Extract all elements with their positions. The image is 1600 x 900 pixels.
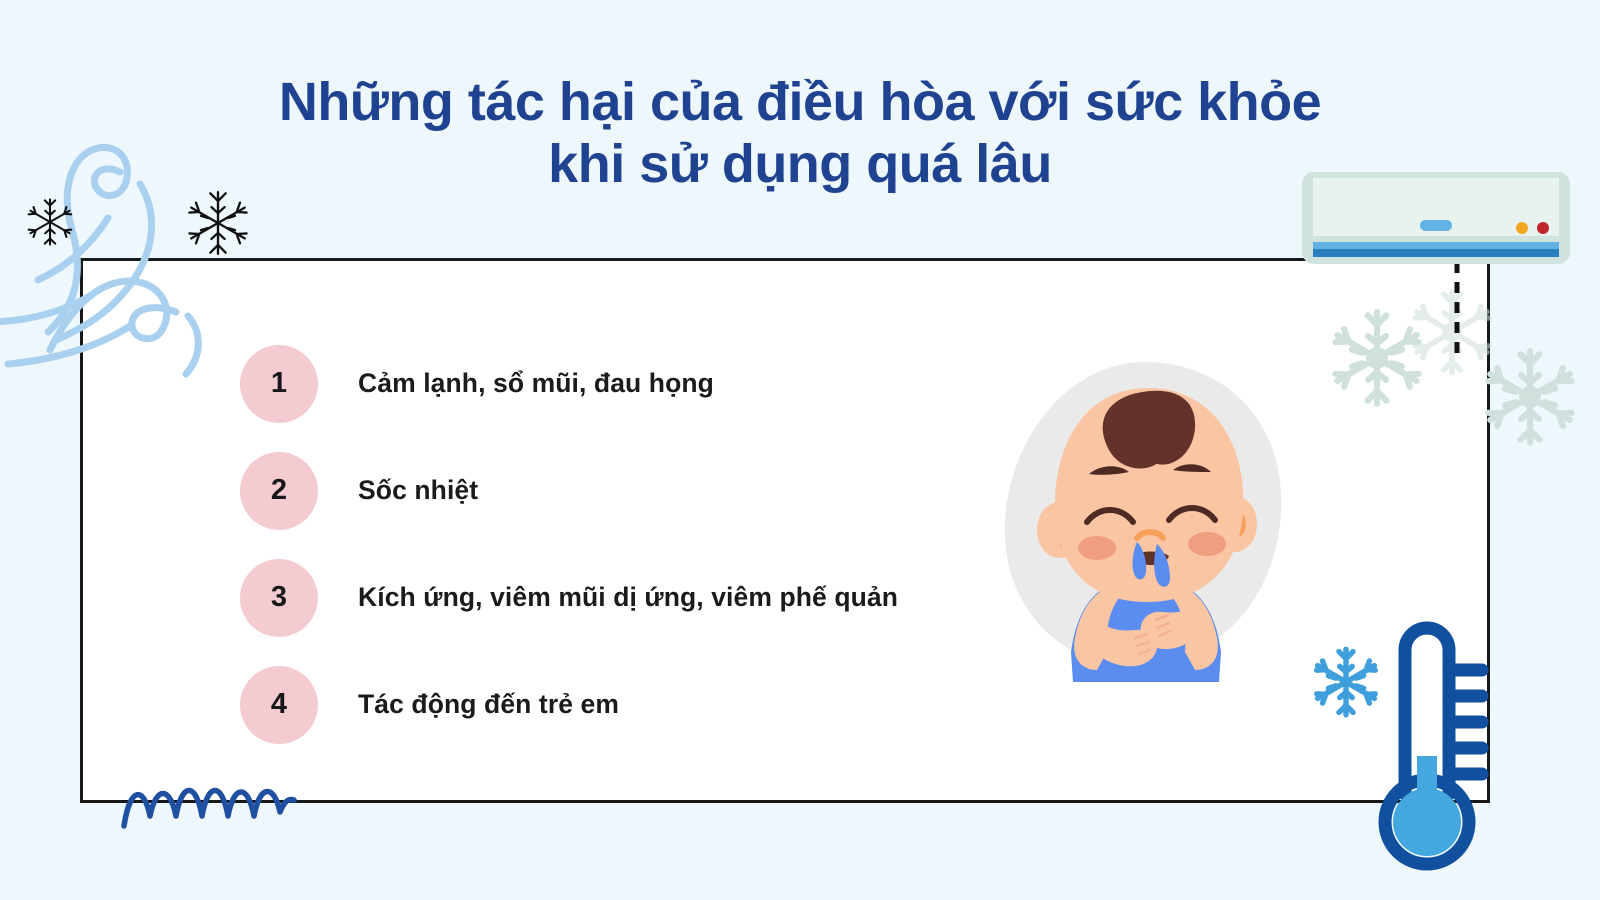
snowflake-line-icon xyxy=(185,190,251,256)
list-number-badge: 1 xyxy=(240,345,318,423)
list-number: 2 xyxy=(271,476,287,505)
list-number-badge: 3 xyxy=(240,559,318,637)
snowflake-line-icon xyxy=(24,196,76,248)
list-item-label: Kích ứng, viêm mũi dị ứng, viêm phế quản xyxy=(358,582,898,613)
air-conditioner-icon xyxy=(1302,172,1570,264)
list-number-badge: 4 xyxy=(240,666,318,744)
thermometer-icon xyxy=(1370,608,1495,880)
list-item-label: Tác động đến trẻ em xyxy=(358,689,619,720)
infographic-canvas: Những tác hại của điều hòa với sức khỏe … xyxy=(0,0,1600,900)
wind-swirl-decoration xyxy=(0,126,280,396)
list-number: 1 xyxy=(271,369,287,398)
zigzag-squiggle-decoration xyxy=(118,768,318,830)
list-number: 3 xyxy=(271,583,287,612)
list-item-label: Sốc nhiệt xyxy=(358,475,478,506)
list-item: 2 Sốc nhiệt xyxy=(240,437,1020,544)
harm-list: 1 Cảm lạnh, sổ mũi, đau họng 2 Sốc nhiệt… xyxy=(240,330,1020,758)
list-item: 1 Cảm lạnh, sổ mũi, đau họng xyxy=(240,330,1020,437)
cold-air-dashed-line xyxy=(1454,262,1460,354)
list-number-badge: 2 xyxy=(240,452,318,530)
list-item: 3 Kích ứng, viêm mũi dị ứng, viêm phế qu… xyxy=(240,544,1020,651)
list-number: 4 xyxy=(271,690,287,719)
list-item-label: Cảm lạnh, sổ mũi, đau họng xyxy=(358,368,714,399)
title-line-1: Những tác hại của điều hòa với sức khỏe xyxy=(0,72,1600,134)
sick-baby-illustration xyxy=(985,352,1305,682)
list-item: 4 Tác động đến trẻ em xyxy=(240,651,1020,758)
snowflake-icon xyxy=(1478,345,1582,449)
